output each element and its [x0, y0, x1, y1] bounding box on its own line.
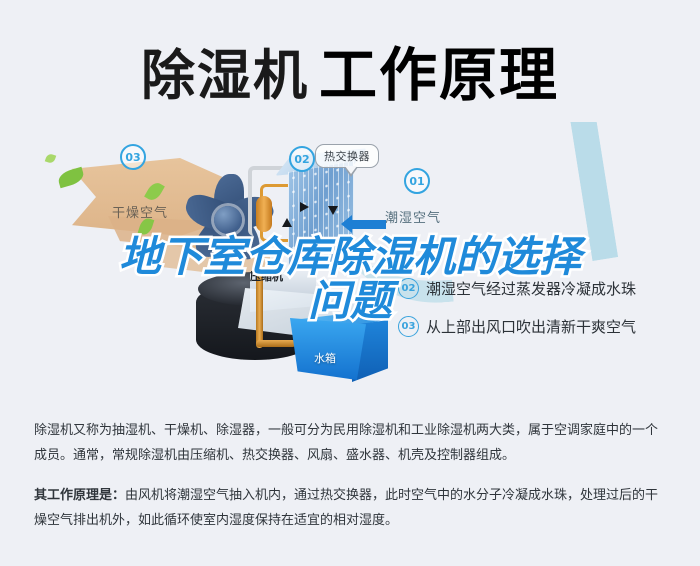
- water-tank-icon: [290, 318, 366, 380]
- page-root: 除湿机 工作原理: [0, 0, 700, 566]
- step-text: 潮湿空气经过蒸发器冷凝成水珠: [426, 278, 636, 299]
- water-tank-label: 水箱: [314, 350, 336, 366]
- step-number: 03: [398, 316, 419, 337]
- process-step-list: 01 由风机将潮湿空气抽入机内 02 潮湿空气经过蒸发器冷凝成水珠 03 从上部…: [398, 240, 688, 354]
- step-text: 从上部出风口吹出清新干爽空气: [426, 316, 636, 337]
- heat-exchanger-callout: 热交换器: [315, 144, 379, 168]
- flow-arrow-icon: [282, 218, 292, 227]
- leaf-icon: [56, 167, 85, 189]
- process-step-03: 03 从上部出风口吹出清新干爽空气: [398, 316, 688, 337]
- humid-air-label: 潮湿空气: [385, 207, 441, 226]
- drain-pipe-bend-icon: [256, 340, 296, 347]
- receiver-cylinder-icon: [256, 196, 272, 232]
- page-title: 除湿机 工作原理: [0, 34, 700, 106]
- leaf-icon: [45, 153, 57, 165]
- body-paragraph-2-text: 由风机将潮湿空气抽入机内，通过热交换器，此时空气中的水分子冷凝成水珠，处理过后的…: [34, 488, 658, 528]
- flow-arrow-icon: [328, 206, 338, 215]
- page-title-bold: 工作原理: [319, 28, 559, 112]
- body-paragraph-2-label: 其工作原理是：: [34, 488, 125, 503]
- page-title-light: 除湿机: [141, 31, 309, 110]
- body-paragraph-2: 其工作原理是：由风机将潮湿空气抽入机内，通过热交换器，此时空气中的水分子冷凝成水…: [34, 483, 668, 534]
- article-body: 除湿机又称为抽湿机、干燥机、除湿器，一般可分为民用除湿机和工业除湿机两大类，属于…: [34, 418, 668, 547]
- flow-arrow-icon: [300, 202, 309, 212]
- fan-hub: [214, 206, 242, 234]
- step-number: 02: [398, 278, 419, 299]
- diagram-badge-02: 02: [289, 146, 315, 172]
- dry-air-label: 干燥空气: [112, 202, 168, 221]
- diagram-badge-03: 03: [120, 144, 146, 170]
- body-paragraph-1: 除湿机又称为抽湿机、干燥机、除湿器，一般可分为民用除湿机和工业除湿机两大类，属于…: [34, 418, 668, 469]
- process-step-02: 02 潮湿空气经过蒸发器冷凝成水珠: [398, 278, 688, 299]
- humid-air-intake-arrow-icon: [352, 220, 386, 229]
- compressor-label: 压缩机: [250, 268, 283, 284]
- diagram-badge-01: 01: [404, 168, 430, 194]
